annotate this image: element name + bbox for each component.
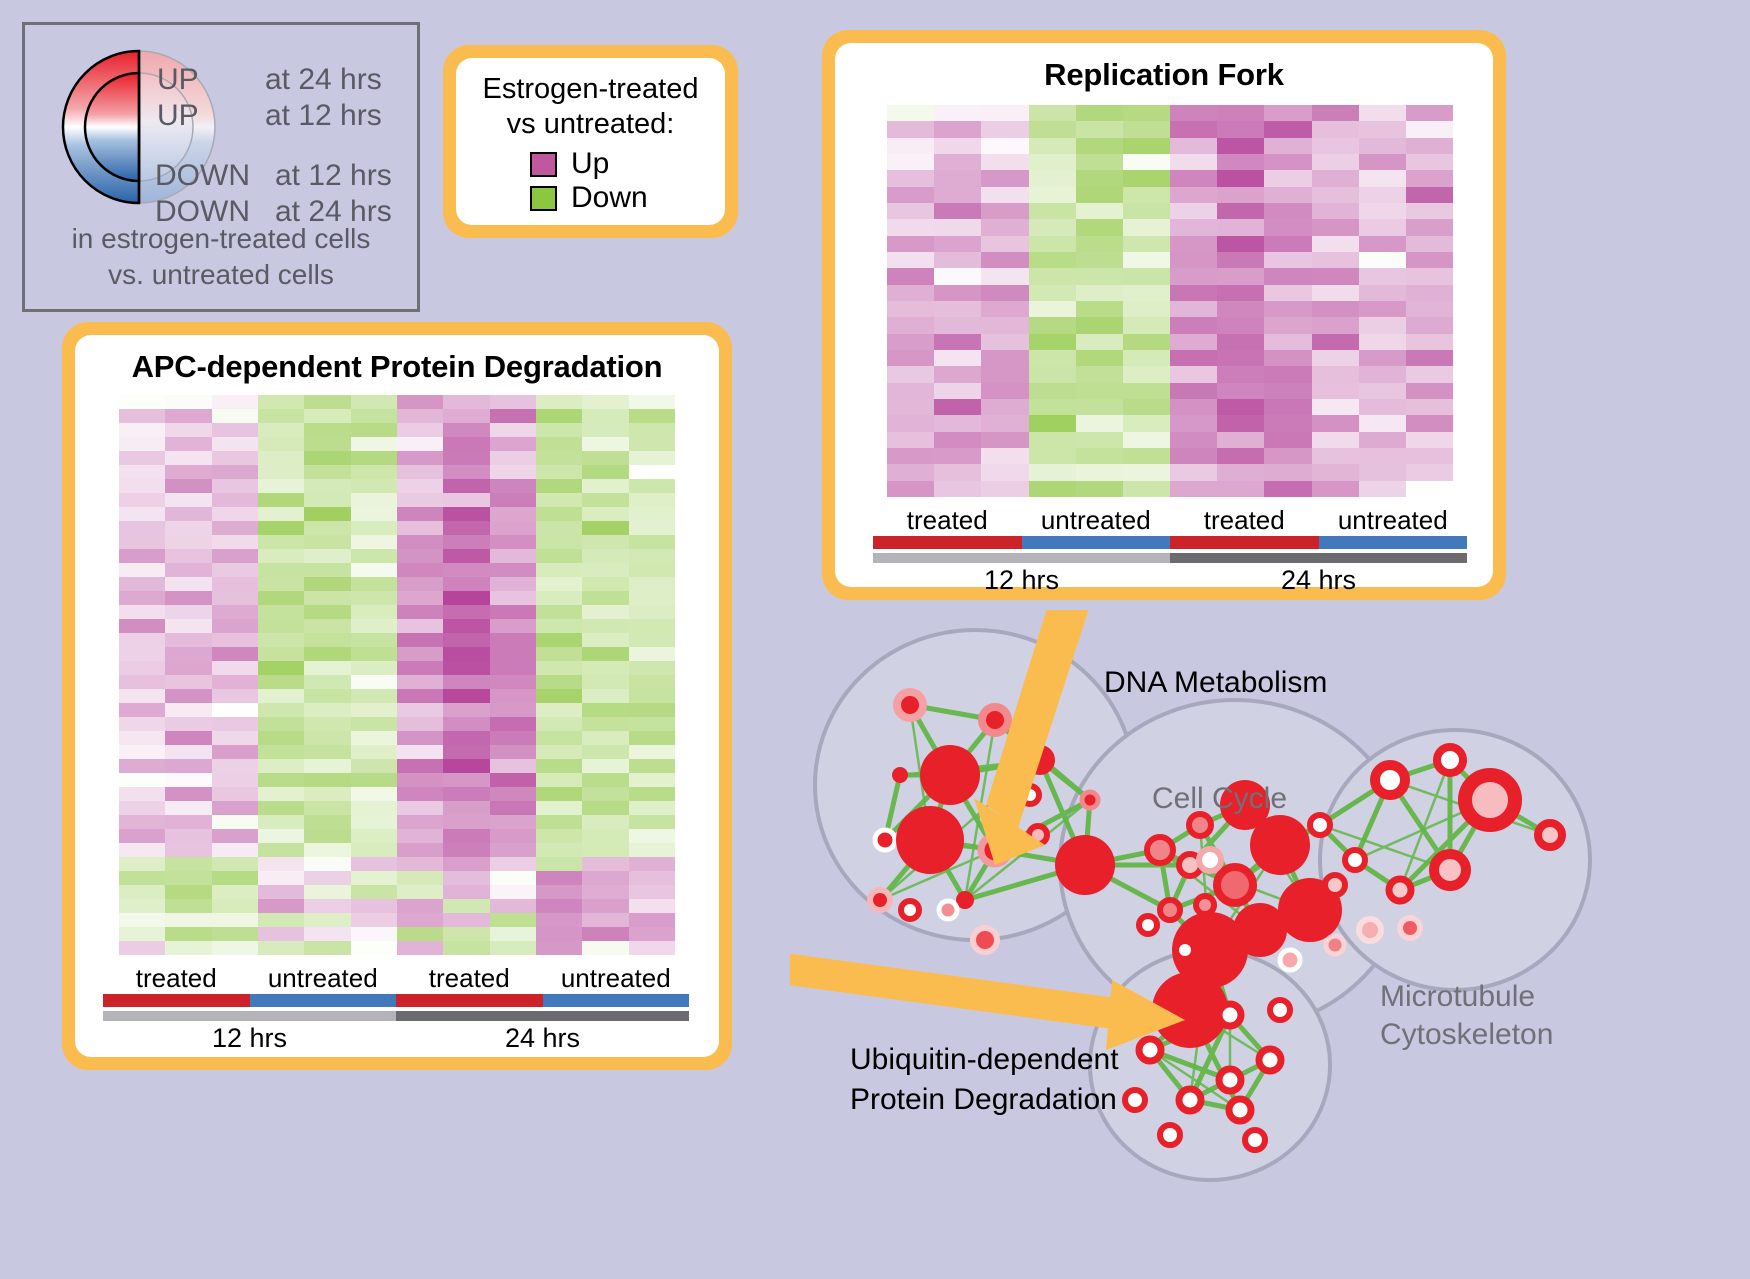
key-caption: in estrogen-treated cells vs. untreated …: [25, 221, 417, 293]
node: [1389, 879, 1411, 901]
key-word-down-12: DOWN: [155, 159, 250, 193]
node: [982, 707, 1008, 733]
treatment-bar-untreated-24: [543, 994, 690, 1007]
node: [1219, 1069, 1241, 1091]
time-label-24hrs: 24 hrs: [396, 1023, 689, 1054]
up-down-legend-panel: Estrogen-treated vs untreated: Up Down: [443, 45, 738, 238]
apc-time-labels: 12 hrs 24 hrs: [103, 1023, 689, 1054]
node: [896, 806, 964, 874]
node: [1359, 919, 1381, 941]
cluster-label-dna-metabolism: DNA Metabolism: [1104, 666, 1327, 700]
key-time-down-12: at 12 hrs: [275, 159, 392, 193]
treatment-bar-treated-24: [1170, 536, 1319, 549]
sample-label-3: untreated: [1319, 505, 1468, 536]
pathway-network-diagram: [790, 610, 1750, 1279]
cluster-label-cell-cycle: Cell Cycle: [1152, 782, 1287, 816]
replication-fork-panel: Replication Fork treated untreated treat…: [822, 30, 1506, 600]
time-bar-12hrs: [873, 553, 1170, 563]
legend-item-up: Up: [530, 148, 707, 180]
node: [1280, 950, 1300, 970]
key-caption-line1: in estrogen-treated cells: [25, 221, 417, 257]
legend-heading-line2: vs untreated:: [474, 107, 707, 142]
node: [1325, 875, 1345, 895]
sample-label-3: untreated: [543, 963, 690, 994]
node: [892, 767, 908, 783]
cluster-label-ubiquitin-degradation: Ubiquitin-dependent Protein Degradation: [850, 1040, 1119, 1120]
node: [1465, 775, 1515, 825]
replication-fork-heatmap: [887, 105, 1453, 497]
apc-treatment-bar: [103, 994, 689, 1007]
treatment-bar-treated-12: [103, 994, 250, 1007]
node: [1189, 814, 1211, 836]
node: [1326, 936, 1344, 954]
time-bar-12hrs: [103, 1011, 396, 1021]
sample-label-1: untreated: [1022, 505, 1171, 536]
node: [939, 901, 957, 919]
node: [1179, 1089, 1201, 1111]
node: [1219, 1004, 1241, 1026]
legend-heading: Estrogen-treated vs untreated:: [474, 72, 707, 142]
apc-degradation-heatmap: [119, 395, 675, 955]
legend-item-down: Down: [530, 182, 707, 214]
apc-degradation-title: APC-dependent Protein Degradation: [75, 335, 719, 385]
node: [1176, 941, 1194, 959]
node: [1437, 747, 1463, 773]
node: [1139, 1039, 1161, 1061]
sample-label-0: treated: [103, 963, 250, 994]
apc-time-bar: [103, 1011, 689, 1021]
node: [1139, 916, 1157, 934]
apc-sample-labels: treated untreated treated untreated: [103, 963, 689, 994]
time-label-12hrs: 12 hrs: [103, 1023, 396, 1054]
node: [1310, 815, 1330, 835]
node: [1538, 823, 1562, 847]
node: [1199, 849, 1221, 871]
node: [1270, 1000, 1290, 1020]
key-word-up-24: UP: [157, 63, 199, 97]
node: [870, 890, 890, 910]
node: [1217, 867, 1253, 903]
replication-fork-time-labels: 12 hrs 24 hrs: [873, 565, 1467, 596]
legend-heading-line1: Estrogen-treated: [474, 72, 707, 107]
time-label-12hrs: 12 hrs: [873, 565, 1170, 596]
key-word-up-12: UP: [157, 99, 199, 133]
cluster-label-microtubule-cytoskeleton: Microtubule Cytoskeleton: [1380, 978, 1553, 1054]
sample-label-2: treated: [396, 963, 543, 994]
apc-degradation-panel: APC-dependent Protein Degradation treate…: [62, 322, 732, 1070]
node: [875, 830, 895, 850]
sample-label-2: treated: [1170, 505, 1319, 536]
node: [1160, 900, 1180, 920]
key-time-up-12: at 12 hrs: [265, 99, 382, 133]
node: [1055, 835, 1115, 895]
time-bar-24hrs: [1170, 553, 1467, 563]
node: [1250, 815, 1310, 875]
color-key-box: UP at 24 hrs UP at 12 hrs DOWN at 12 hrs…: [22, 22, 420, 312]
node: [1245, 1130, 1265, 1150]
node: [1229, 1099, 1251, 1121]
treatment-bar-untreated-24: [1319, 536, 1468, 549]
down-color-swatch: [530, 186, 557, 211]
treatment-bar-treated-24: [396, 994, 543, 1007]
node: [1259, 1049, 1281, 1071]
sample-label-0: treated: [873, 505, 1022, 536]
treatment-bar-untreated-12: [250, 994, 397, 1007]
node: [1125, 1090, 1145, 1110]
node: [920, 745, 980, 805]
sample-label-1: untreated: [250, 963, 397, 994]
node: [901, 901, 919, 919]
up-color-swatch: [530, 152, 557, 177]
key-caption-line2: vs. untreated cells: [25, 257, 417, 293]
replication-fork-time-bar: [873, 553, 1467, 563]
node: [1147, 837, 1173, 863]
treatment-bar-untreated-12: [1022, 536, 1171, 549]
node: [1400, 918, 1420, 938]
time-label-24hrs: 24 hrs: [1170, 565, 1467, 596]
node: [897, 692, 923, 718]
arrow-apc: [790, 940, 1124, 1030]
node: [1434, 854, 1466, 886]
replication-fork-title: Replication Fork: [835, 43, 1493, 93]
key-time-up-24: at 24 hrs: [265, 63, 382, 97]
node: [1375, 765, 1405, 795]
legend-label-up: Up: [571, 148, 609, 180]
replication-fork-sample-labels: treated untreated treated untreated: [873, 505, 1467, 536]
time-bar-24hrs: [396, 1011, 689, 1021]
node: [1082, 792, 1098, 808]
treatment-bar-treated-12: [873, 536, 1022, 549]
node: [973, 928, 997, 952]
replication-fork-treatment-bar: [873, 536, 1467, 549]
node: [1196, 896, 1214, 914]
node: [1160, 1125, 1180, 1145]
node: [1345, 850, 1365, 870]
legend-label-down: Down: [571, 182, 648, 214]
